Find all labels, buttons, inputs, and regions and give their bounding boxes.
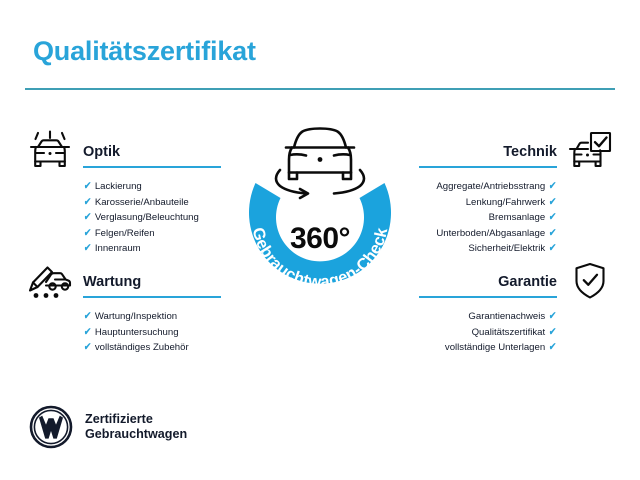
check-icon: ✔: [83, 340, 92, 356]
footer-text: Zertifizierte Gebrauchtwagen: [85, 412, 187, 442]
section-underline: [419, 166, 557, 168]
check-icon: ✔: [83, 210, 92, 226]
list-item: Aggregate/Antriebsstrang✔: [436, 179, 557, 195]
list-item-label: Innenraum: [95, 243, 141, 254]
check-icon: ✔: [548, 340, 557, 356]
list-item-label: vollständige Unterlagen: [445, 342, 545, 353]
check-icon: ✔: [83, 241, 92, 257]
shield-check-icon: [567, 260, 613, 302]
check-icon: ✔: [548, 179, 557, 195]
footer-branding: Zertifizierte Gebrauchtwagen: [29, 405, 187, 449]
list-item-label: Karosserie/Anbauteile: [95, 197, 189, 208]
checklist-garantie: Garantienachweis✔ Qualitätszertifikat✔ v…: [445, 309, 557, 356]
check-icon: ✔: [83, 325, 92, 341]
section-title: Technik: [503, 144, 557, 160]
car-front-rotate-icon: [276, 129, 364, 199]
section-title: Garantie: [498, 274, 557, 290]
car-shine-icon: [27, 130, 73, 172]
list-item: Bremsanlage✔: [436, 210, 557, 226]
list-item: ✔Karosserie/Anbauteile: [83, 195, 199, 211]
list-item: Garantienachweis✔: [445, 309, 557, 325]
list-item: Unterboden/Abgasanlage✔: [436, 226, 557, 242]
footer-line-2: Gebrauchtwagen: [85, 427, 187, 442]
list-item: ✔Hauptuntersuchung: [83, 325, 189, 341]
list-item-label: Lenkung/Fahrwerk: [466, 197, 545, 208]
list-item: ✔Innenraum: [83, 241, 199, 257]
certificate-page: Qualitätszertifikat: [0, 0, 640, 480]
list-item-label: Verglasung/Beleuchtung: [95, 212, 199, 223]
list-item: ✔Lackierung: [83, 179, 199, 195]
360-check-badge: Gebrauchtwagen-Check 360°: [228, 122, 412, 310]
check-icon: ✔: [83, 195, 92, 211]
section-underline: [83, 166, 221, 168]
checklist-technik: Aggregate/Antriebsstrang✔ Lenkung/Fahrwe…: [436, 179, 557, 257]
check-icon: ✔: [548, 325, 557, 341]
list-item-label: Sicherheit/Elektrik: [468, 243, 545, 254]
section-title: Optik: [83, 144, 120, 160]
section-underline: [419, 296, 557, 298]
check-icon: ✔: [83, 309, 92, 325]
list-item: Lenkung/Fahrwerk✔: [436, 195, 557, 211]
check-icon: ✔: [548, 309, 557, 325]
list-item: ✔Verglasung/Beleuchtung: [83, 210, 199, 226]
list-item-label: Bremsanlage: [489, 212, 546, 223]
car-service-pen-icon: [27, 260, 73, 302]
list-item-label: Wartung/Inspektion: [95, 311, 177, 322]
check-icon: ✔: [548, 210, 557, 226]
list-item-label: Hauptuntersuchung: [95, 327, 179, 338]
checklist-wartung: ✔Wartung/Inspektion ✔Hauptuntersuchung ✔…: [83, 309, 189, 356]
check-icon: ✔: [83, 179, 92, 195]
check-icon: ✔: [83, 226, 92, 242]
section-title: Wartung: [83, 274, 141, 290]
title-divider: [25, 88, 615, 90]
list-item-label: Aggregate/Antriebsstrang: [436, 181, 545, 192]
list-item-label: Felgen/Reifen: [95, 228, 155, 239]
volkswagen-logo-icon: [29, 405, 73, 449]
list-item: ✔vollständiges Zubehör: [83, 340, 189, 356]
list-item-label: vollständiges Zubehör: [95, 342, 189, 353]
page-title: Qualitätszertifikat: [33, 36, 256, 67]
degrees-label: 360°: [228, 222, 412, 256]
checklist-optik: ✔Lackierung ✔Karosserie/Anbauteile ✔Verg…: [83, 179, 199, 257]
list-item: Sicherheit/Elektrik✔: [436, 241, 557, 257]
list-item-label: Garantienachweis: [468, 311, 545, 322]
check-icon: ✔: [548, 241, 557, 257]
list-item: ✔Felgen/Reifen: [83, 226, 199, 242]
list-item: Qualitätszertifikat✔: [445, 325, 557, 341]
car-checkbox-icon: [567, 130, 613, 172]
list-item: vollständige Unterlagen✔: [445, 340, 557, 356]
check-icon: ✔: [548, 195, 557, 211]
list-item-label: Unterboden/Abgasanlage: [436, 228, 545, 239]
footer-line-1: Zertifizierte: [85, 412, 187, 427]
list-item-label: Lackierung: [95, 181, 142, 192]
list-item: ✔Wartung/Inspektion: [83, 309, 189, 325]
check-icon: ✔: [548, 226, 557, 242]
section-underline: [83, 296, 221, 298]
list-item-label: Qualitätszertifikat: [472, 327, 546, 338]
